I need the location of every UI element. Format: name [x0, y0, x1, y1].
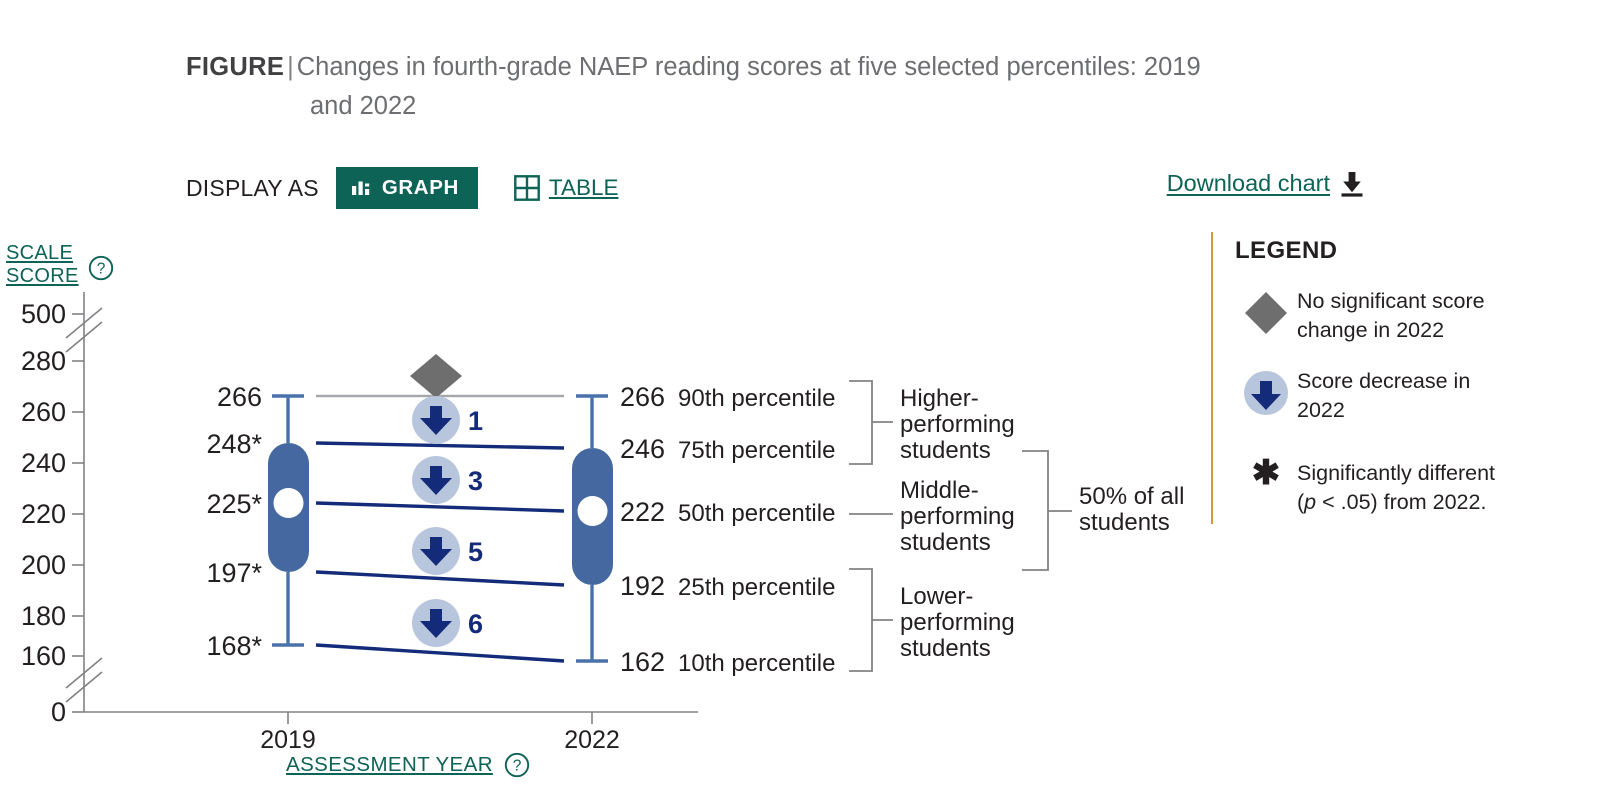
bracket-label-lower-l2: performing	[900, 609, 1015, 636]
download-chart-label: Download chart	[1167, 170, 1330, 197]
boxplot-2022[interactable]	[572, 396, 613, 661]
change-value-10th: 6	[468, 609, 483, 639]
figure-page: FIGURE|Changes in fourth-grade NAEP read…	[0, 0, 1600, 809]
value-label-2022-90th: 266	[620, 382, 665, 412]
title-line-2: and 2022	[310, 87, 1386, 126]
bracket-label-higher-l3: students	[900, 437, 991, 464]
grid-icon	[514, 175, 540, 201]
value-label-2019-25th: 197*	[206, 558, 262, 588]
download-icon	[1340, 171, 1364, 197]
legend-item-decrease-text: Score decrease in 2022	[1297, 367, 1470, 425]
x-tick-label-2022: 2022	[564, 726, 620, 750]
y-tick-labels: 500 280 260 240 220 200 180 160 0	[21, 299, 66, 727]
y-tick-label: 220	[21, 499, 66, 529]
bracket-label-middle-l3: students	[900, 529, 991, 556]
title-separator: |	[284, 53, 297, 81]
y-tick-label: 240	[21, 448, 66, 478]
legend-decrease-line2: 2022	[1297, 398, 1345, 422]
change-marker-75th[interactable]: 1	[412, 396, 483, 444]
bar-chart-icon	[351, 178, 373, 198]
legend-title: LEGEND	[1235, 237, 1571, 265]
change-marker-90th[interactable]	[410, 354, 462, 398]
assessment-year-help-icon[interactable]: ?	[504, 752, 530, 778]
legend-item-significance-text: Significantly different (p < .05) from 2…	[1297, 459, 1495, 517]
percentile-label-90th: 90th percentile	[678, 385, 835, 412]
y-axis	[66, 292, 102, 712]
legend-significance-post: < .05) from 2022.	[1316, 490, 1486, 514]
change-marker-25th[interactable]: 5	[412, 527, 483, 575]
title-line-1: Changes in fourth-grade NAEP reading sco…	[297, 53, 1201, 81]
y-tick-label: 260	[21, 397, 66, 427]
display-toolbar: DISPLAY AS GRAPH TABLE	[186, 167, 619, 209]
asterisk-icon: ✱	[1235, 459, 1297, 485]
legend-item-no-change: No significant score change in 2022	[1235, 287, 1571, 345]
boxplot-2019[interactable]	[268, 396, 309, 645]
legend-no-change-line1: No significant score	[1297, 289, 1485, 313]
asterisk-glyph: ✱	[1252, 461, 1281, 485]
value-label-2022-25th: 192	[620, 571, 665, 601]
connector-75th	[316, 443, 564, 448]
labels-2022: 266 246 222 192 162	[620, 382, 665, 677]
bracket-higher	[849, 381, 872, 464]
median-marker-2019	[274, 488, 304, 518]
legend-item-no-change-text: No significant score change in 2022	[1297, 287, 1485, 345]
y-tick-label: 500	[21, 299, 66, 329]
legend-significance-p: p	[1304, 490, 1316, 514]
bracket-label-fifty-l2: students	[1079, 509, 1170, 536]
change-value-25th: 5	[468, 537, 483, 567]
change-marker-50th[interactable]: 3	[412, 456, 483, 504]
display-as-label: DISPLAY AS	[186, 175, 319, 202]
legend-item-significance: ✱ Significantly different (p < .05) from…	[1235, 459, 1571, 517]
download-chart-link[interactable]: Download chart	[1167, 170, 1364, 197]
value-label-2019-75th: 248*	[206, 429, 262, 459]
graph-view-button[interactable]: GRAPH	[336, 167, 478, 209]
table-link-label: TABLE	[549, 175, 619, 201]
bracket-label-higher-l2: performing	[900, 411, 1015, 438]
table-view-link[interactable]: TABLE	[514, 175, 619, 201]
y-tick-label: 280	[21, 346, 66, 376]
graph-button-label: GRAPH	[382, 176, 459, 200]
x-tick-label-2019: 2019	[260, 726, 316, 750]
percentile-label-25th: 25th percentile	[678, 574, 835, 601]
x-axis	[84, 712, 698, 724]
bracket-labels: Higher- performing students Middle- perf…	[900, 385, 1184, 662]
bracket-label-lower-l1: Lower-	[900, 583, 973, 610]
down-arrow-circle-icon	[1235, 367, 1297, 417]
gray-diamond-icon	[1235, 287, 1297, 337]
legend-no-change-line2: change in 2022	[1297, 318, 1444, 342]
change-marker-10th[interactable]: 6	[412, 599, 483, 647]
connector-50th	[316, 503, 564, 511]
median-marker-2022	[578, 496, 608, 526]
gray-diamond-icon	[410, 354, 462, 398]
x-axis-title[interactable]: ASSESSMENT YEAR	[286, 753, 493, 777]
percentile-label-50th: 50th percentile	[678, 500, 835, 527]
legend-panel: LEGEND No significant score change in 20…	[1211, 232, 1571, 524]
x-tick-labels: 2019 2022	[260, 726, 620, 750]
value-label-2022-50th: 222	[620, 497, 665, 527]
bracket-label-fifty-l1: 50% of all	[1079, 483, 1184, 510]
naep-percentile-chart: 500 280 260 240 220 200 180 160 0 2019 2…	[0, 230, 1200, 750]
value-label-2022-10th: 162	[620, 647, 665, 677]
y-tick-label: 160	[21, 641, 66, 671]
labels-2019: 266 248* 225* 197* 168*	[206, 382, 262, 661]
change-value-75th: 1	[468, 406, 483, 436]
value-label-2019-90th: 266	[217, 382, 262, 412]
bracket-label-higher-l1: Higher-	[900, 385, 979, 412]
figure-label: FIGURE	[186, 53, 284, 81]
change-value-50th: 3	[468, 466, 483, 496]
bracket-label-middle-l2: performing	[900, 503, 1015, 530]
x-axis-title-group: ASSESSMENT YEAR ?	[286, 752, 530, 778]
percentile-label-10th: 10th percentile	[678, 650, 835, 677]
percentile-labels: 90th percentile 75th percentile 50th per…	[678, 385, 835, 677]
bracket-lower	[849, 569, 872, 671]
y-tick-label: 180	[21, 601, 66, 631]
legend-decrease-line1: Score decrease in	[1297, 369, 1470, 393]
value-label-2019-10th: 168*	[206, 631, 262, 661]
page-title: FIGURE|Changes in fourth-grade NAEP read…	[186, 48, 1386, 126]
bracket-fifty-percent	[1022, 451, 1048, 570]
y-tick-label: 0	[51, 697, 66, 727]
bracket-label-lower-l3: students	[900, 635, 991, 662]
bracket-label-middle-l1: Middle-	[900, 477, 979, 504]
percentile-label-75th: 75th percentile	[678, 437, 835, 464]
y-tick-label: 200	[21, 550, 66, 580]
legend-significance-line1: Significantly different	[1297, 461, 1495, 485]
legend-item-decrease: Score decrease in 2022	[1235, 367, 1571, 425]
svg-text:?: ?	[513, 758, 522, 775]
value-label-2022-75th: 246	[620, 434, 665, 464]
connector-10th	[316, 645, 564, 661]
value-label-2019-50th: 225*	[206, 489, 262, 519]
